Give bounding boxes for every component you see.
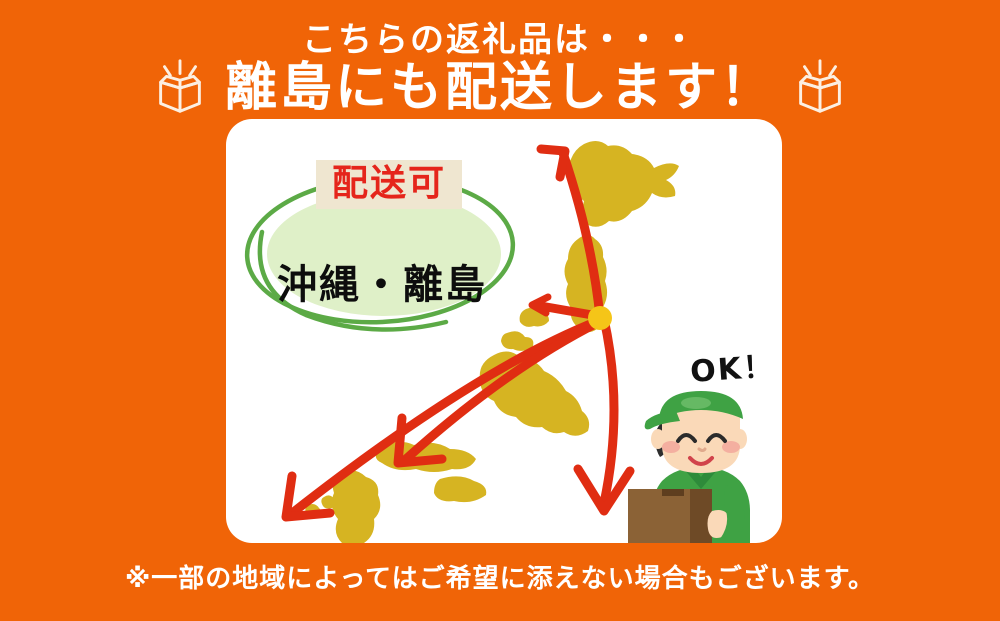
- open-box-sparkle-icon: [789, 57, 851, 119]
- arrow-south: [604, 319, 614, 503]
- speech-ok-text: OK！: [689, 341, 777, 391]
- origin-marker: [588, 306, 612, 330]
- parcel-tape: [662, 489, 684, 496]
- parcel-box-side: [690, 489, 712, 543]
- status-badge: 配送可: [316, 160, 462, 209]
- region-callout-label: 沖縄・離島: [232, 252, 532, 310]
- subheading-text: こちらの返礼品は・・・: [0, 12, 1000, 61]
- arrow-head-hokkaido: [541, 149, 565, 177]
- footnote-text: ※一部の地域によってはご希望に添えない場合もございます。: [0, 558, 1000, 595]
- person-nose: [699, 449, 705, 451]
- headline-row: 離島にも配送します！: [0, 57, 1000, 119]
- banner-root: こちらの返礼品は・・・ 離島にも配送します！: [0, 0, 1000, 621]
- open-box-sparkle-icon: [149, 57, 211, 119]
- person-cap-patch: [681, 397, 711, 409]
- delivery-person: [626, 385, 776, 543]
- headline-text: 離島にも配送します！: [225, 62, 775, 114]
- map-region-shikoku: [434, 476, 486, 502]
